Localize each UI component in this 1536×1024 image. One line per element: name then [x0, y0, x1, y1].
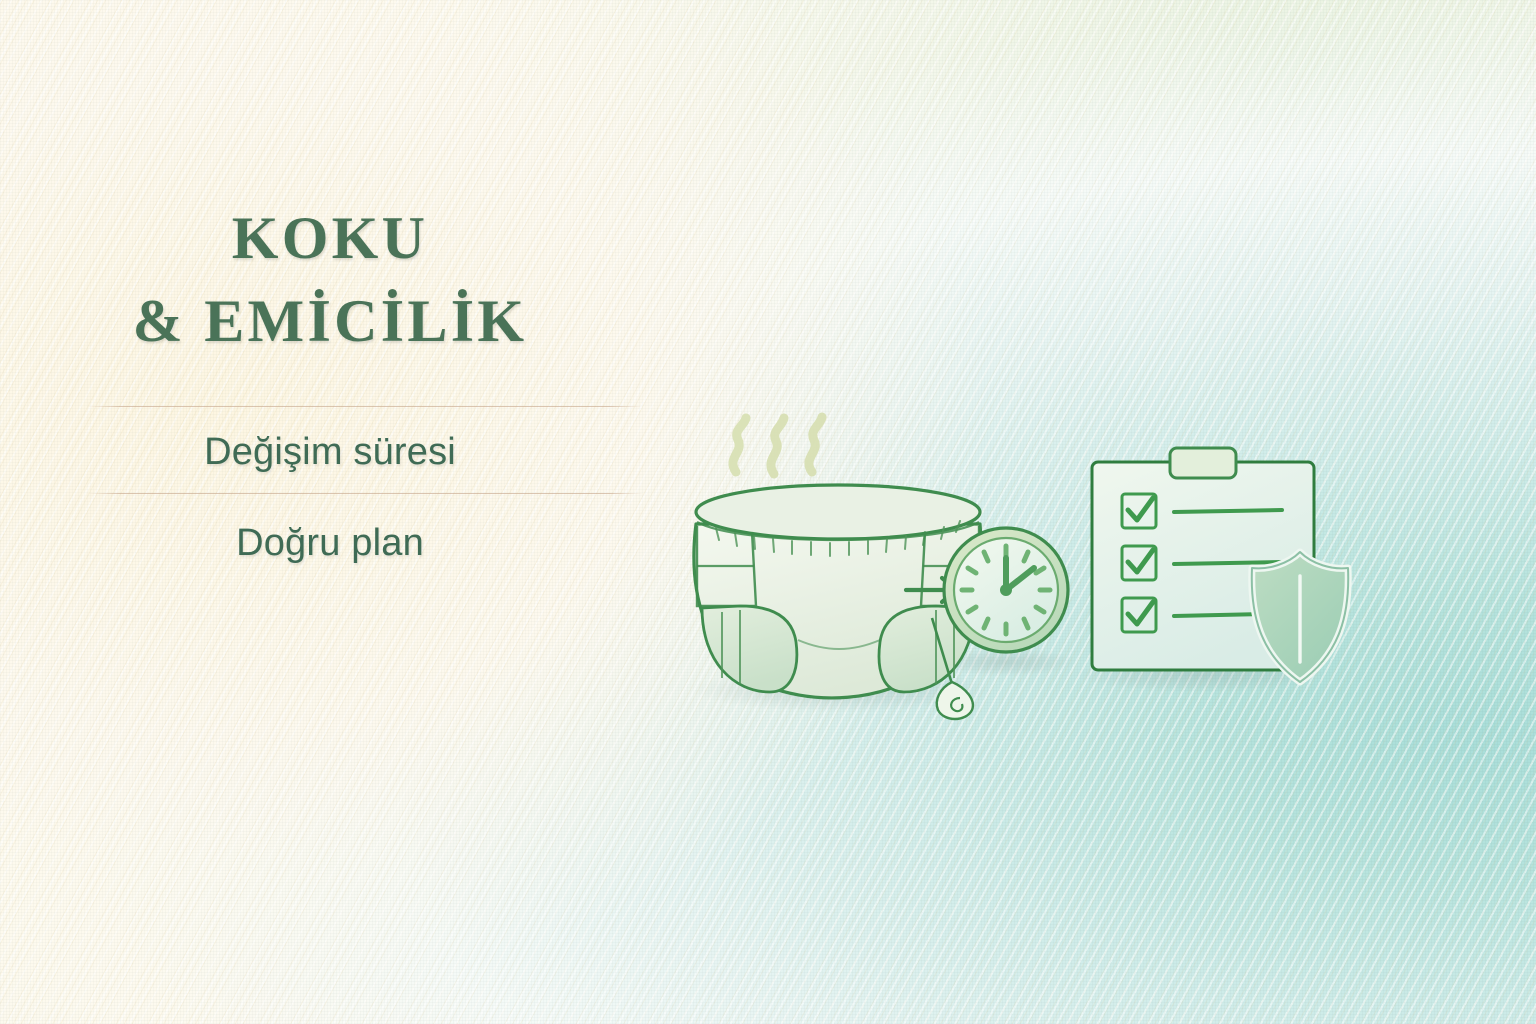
clipboard-clip	[1170, 448, 1236, 478]
subtitle-change-duration: Değişim süresi	[0, 430, 660, 474]
page-title-line-2: & EMİCİLİK	[0, 289, 660, 353]
illustration-group	[640, 400, 1420, 760]
odor-wave-icon	[733, 417, 822, 474]
divider-bottom	[87, 493, 643, 494]
banner-canvas: KOKU & EMİCİLİK Değişim süresi Doğru pla…	[0, 0, 1536, 1024]
subtitle-correct-plan: Doğru plan	[0, 521, 660, 565]
divider-top	[87, 406, 643, 407]
clock-icon	[944, 528, 1068, 652]
clock-center-pin	[1000, 584, 1012, 596]
page-title-line-1: KOKU	[0, 206, 660, 270]
